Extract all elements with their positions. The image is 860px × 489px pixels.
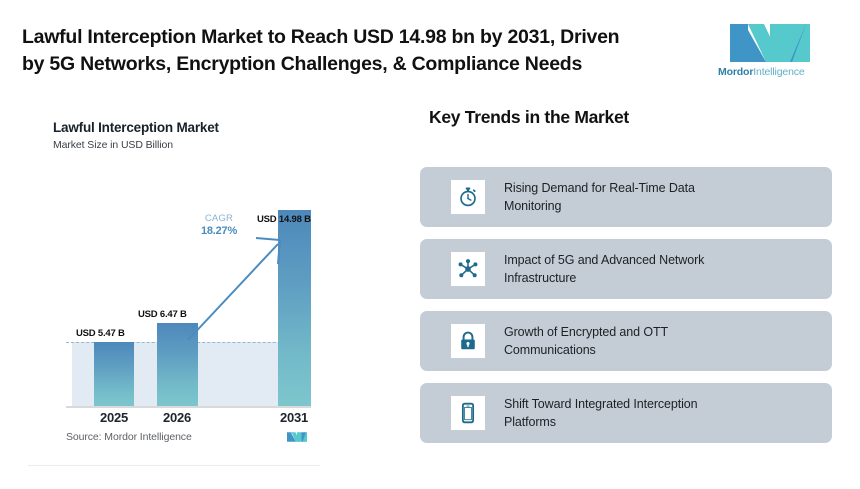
stopwatch-icon <box>457 186 479 208</box>
chart-source-label: Source: Mordor Intelligence <box>66 431 192 443</box>
bar-chart-plot-area: USD 5.47 B USD 6.47 B USD 14.98 B CAGR 1… <box>66 164 311 409</box>
trend-card-rising-demand[interactable]: Rising Demand for Real-Time Data Monitor… <box>420 167 832 227</box>
trend-card-encryption-growth[interactable]: Growth of Encrypted and OTT Communicatio… <box>420 311 832 371</box>
trend-text-line-2: Communications <box>504 343 596 357</box>
x-axis-label-2026: 2026 <box>144 410 210 425</box>
cagr-value: 18.27% <box>186 225 252 238</box>
smartphone-icon <box>457 402 479 424</box>
trend-card-text: Growth of Encrypted and OTT Communicatio… <box>504 323 814 359</box>
page-title-line-1: Lawful Interception Market to Reach USD … <box>22 26 619 48</box>
bar-value-2026: USD 6.47 B <box>138 309 187 320</box>
brand-word-intelligence: Intelligence <box>753 66 804 78</box>
trend-card-5g-impact[interactable]: Impact of 5G and Advanced Network Infras… <box>420 239 832 299</box>
brand-logo: MordorIntelligence <box>718 22 822 80</box>
chart-source-row: Source: Mordor Intelligence <box>66 428 312 450</box>
key-trends-heading: Key Trends in the Market <box>429 107 629 128</box>
bar-2025 <box>94 342 134 406</box>
trend-card-text: Shift Toward Integrated Interception Pla… <box>504 395 814 431</box>
trend-text-line-1: Impact of 5G and Advanced Network <box>504 253 704 267</box>
mordor-m-logo-icon <box>284 428 310 446</box>
trend-icon-box <box>451 180 485 214</box>
page-title: Lawful Interception Market to Reach USD … <box>22 24 692 78</box>
trend-card-text: Rising Demand for Real-Time Data Monitor… <box>504 179 814 215</box>
cagr-callout: CAGR 18.27% <box>186 212 252 238</box>
chart-x-axis-line <box>66 406 311 408</box>
trend-text-line-2: Infrastructure <box>504 271 576 285</box>
header: Lawful Interception Market to Reach USD … <box>0 0 860 100</box>
trend-icon-box <box>451 396 485 430</box>
trend-text-line-1: Shift Toward Integrated Interception <box>504 397 698 411</box>
lock-icon <box>457 330 479 352</box>
brand-word-mordor: Mordor <box>718 66 753 78</box>
x-axis-label-2031: 2031 <box>261 410 327 425</box>
trend-text-line-1: Rising Demand for Real-Time Data <box>504 181 695 195</box>
trend-icon-box <box>451 324 485 358</box>
trend-card-integrated-platforms[interactable]: Shift Toward Integrated Interception Pla… <box>420 383 832 443</box>
bar-value-2025: USD 5.47 B <box>76 328 125 339</box>
cagr-arrow-icon <box>184 224 294 344</box>
trend-text-line-2: Monitoring <box>504 199 561 213</box>
trend-icon-box <box>451 252 485 286</box>
network-hub-icon <box>457 258 479 280</box>
chart-title: Lawful Interception Market <box>53 120 219 135</box>
chart-card: Lawful Interception Market Market Size i… <box>28 106 320 466</box>
trend-text-line-2: Platforms <box>504 415 556 429</box>
brand-wordmark: MordorIntelligence <box>718 66 822 78</box>
x-axis-label-2025: 2025 <box>81 410 147 425</box>
cagr-label: CAGR <box>186 212 252 225</box>
trend-card-text: Impact of 5G and Advanced Network Infras… <box>504 251 814 287</box>
chart-subtitle: Market Size in USD Billion <box>53 139 173 151</box>
mordor-m-logo-icon <box>718 22 822 64</box>
key-trends-list: Rising Demand for Real-Time Data Monitor… <box>420 167 832 455</box>
trend-text-line-1: Growth of Encrypted and OTT <box>504 325 668 339</box>
page-title-line-2: by 5G Networks, Encryption Challenges, &… <box>22 51 692 78</box>
